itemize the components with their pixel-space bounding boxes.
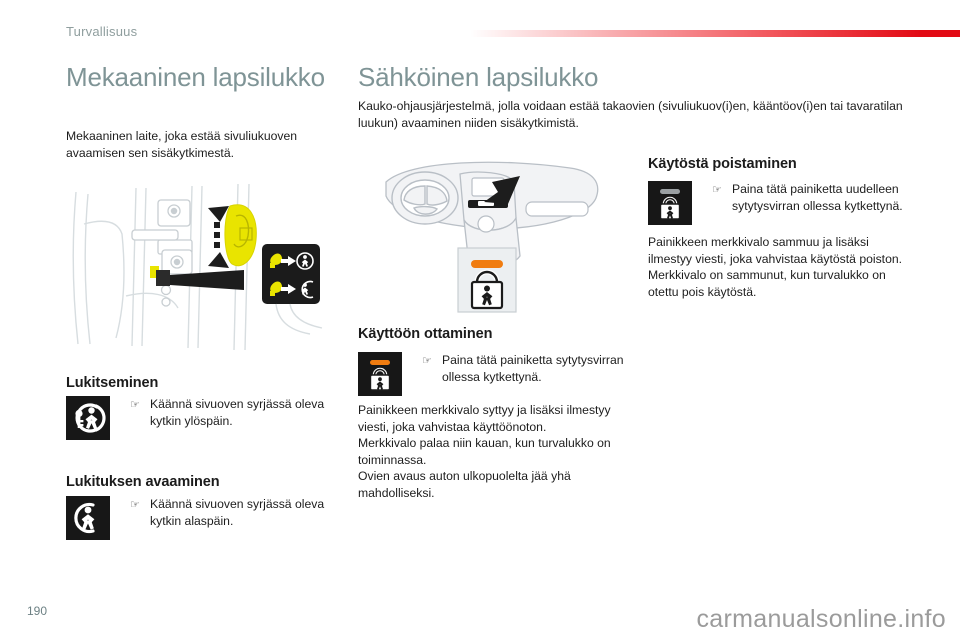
heading-lukituksen-avaaminen: Lukituksen avaaminen — [66, 473, 220, 491]
heading-lukitseminen: Lukitseminen — [66, 374, 158, 392]
disable-body-text: Painikkeen merkkivalo sammuu ja lisäksi … — [648, 234, 910, 300]
enable-instruction-text: Paina tätä painiketta sytytysvirran olle… — [442, 352, 632, 385]
disable-instruction-text: Paina tätä painiketta uudelleen sytytysv… — [732, 181, 922, 214]
mechanical-intro-text: Mekaaninen laite, joka estää sivuliukuov… — [66, 128, 328, 161]
breadcrumb: Turvallisuus — [66, 24, 137, 39]
page-number: 190 — [27, 604, 47, 618]
lock-instruction-text: Käännä sivuoven syrjässä oleva kytkin yl… — [150, 396, 330, 429]
child-lock-key-icon — [66, 396, 110, 440]
lock-instruction-row: ☞ Käännä sivuoven syrjässä oleva kytkin … — [66, 396, 346, 440]
unlock-instruction-row: ☞ Käännä sivuoven syrjässä oleva kytkin … — [66, 496, 346, 540]
page-title-electric: Sähköinen lapsilukko — [358, 62, 658, 93]
sliding-door-latch-photo — [66, 178, 346, 350]
site-watermark: carmanualsonline.info — [696, 605, 946, 634]
electric-intro-text: Kauko-ohjausjärjestelmä, jolla voidaan e… — [358, 98, 906, 131]
pointing-hand-icon-2: ☞ — [130, 496, 150, 514]
page-title-mechanical: Mekaaninen lapsilukko — [66, 62, 326, 93]
heading-kaytosta-poistaminen: Käytöstä poistaminen — [648, 155, 797, 173]
disable-instruction-row: ☞ Paina tätä painiketta uudelleen sytyty… — [648, 181, 938, 225]
heading-kayttoon-ottaminen: Käyttöön ottaminen — [358, 325, 492, 343]
pointing-hand-icon-3: ☞ — [422, 352, 442, 370]
pointing-hand-icon-4: ☞ — [712, 181, 732, 199]
child-lock-button-off-icon — [648, 181, 692, 225]
enable-body-text: Painikkeen merkkivalo syttyy ja lisäksi … — [358, 402, 623, 502]
child-lock-button-closeup — [458, 248, 516, 312]
child-lock-button-on-icon — [358, 352, 402, 396]
child-unlock-icon — [66, 496, 110, 540]
pointing-hand-icon-1: ☞ — [130, 396, 150, 414]
enable-instruction-row: ☞ Paina tätä painiketta sytytysvirran ol… — [358, 352, 648, 396]
unlock-instruction-text: Käännä sivuoven syrjässä oleva kytkin al… — [150, 496, 330, 529]
dashboard-button-location — [380, 152, 616, 320]
header-accent-rule — [470, 30, 960, 37]
